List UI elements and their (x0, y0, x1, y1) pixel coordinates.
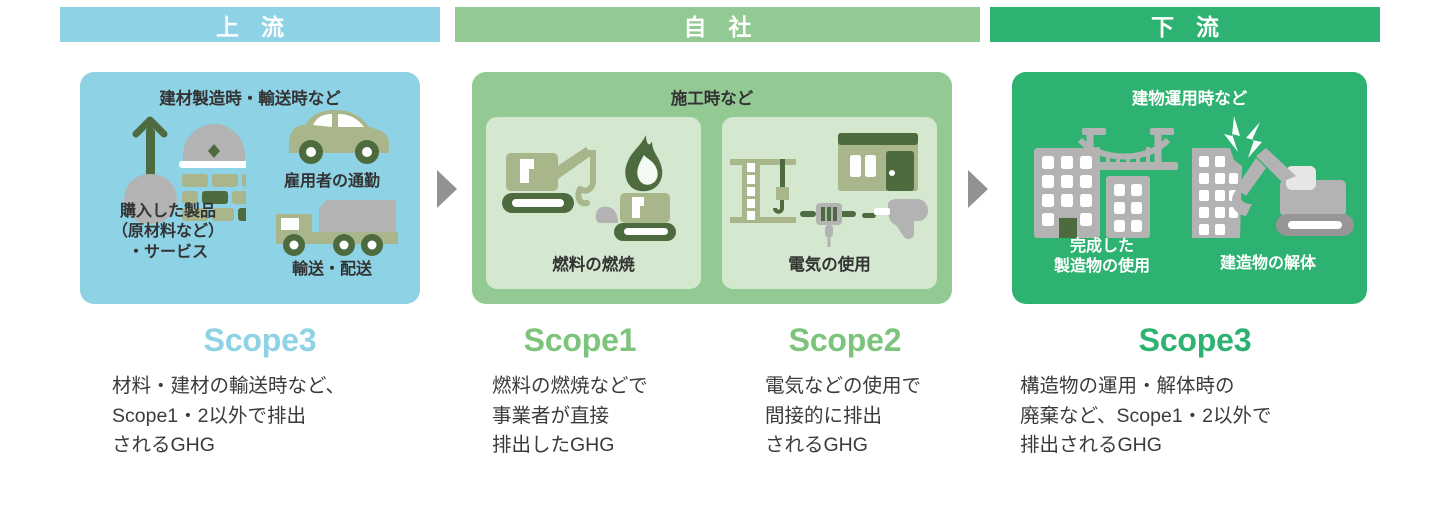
panel-upstream: 建材製造時・輸送時など 購入した製品 （原材料など） ・サービス (80, 72, 420, 304)
scope-body-scope2: 電気などの使用で 間接的に排出 されるGHG (765, 372, 1020, 461)
buildings-bridge-icon (1030, 114, 1178, 239)
subcard-fuel-combustion: 燃料の燃焼 (486, 117, 701, 289)
header-downstream-label: 下 流 (1143, 8, 1227, 42)
truck-icon (272, 192, 402, 258)
upstream-item-label-purchased: 購入した製品 （原材料など） ・サービス (88, 202, 248, 263)
panel-own-company-caption: 施工時など (472, 85, 952, 109)
downstream-item-label-demolish: 建造物の解体 (1182, 254, 1354, 274)
header-upstream-label: 上 流 (208, 8, 292, 42)
car-icon (275, 105, 395, 169)
upstream-item-label-transport: 輸送・配送 (248, 260, 416, 280)
scope-body-scope3-downstream: 構造物の運用・解体時の 廃棄など、Scope1・2以外で 排出されるGHG (1020, 372, 1390, 461)
excavator-flame-icon (494, 131, 694, 249)
scope-title-scope1: Scope1 (480, 322, 680, 359)
scope-title-scope3-downstream: Scope3 (1050, 322, 1340, 359)
subcard-fuel-combustion-label: 燃料の燃焼 (486, 251, 701, 275)
infographic-root: 上 流 自 社 下 流 建材製造時・輸送時など (0, 0, 1440, 505)
arrow-right-icon (968, 170, 988, 208)
header-own-company: 自 社 (455, 7, 980, 42)
panel-downstream: 建物運用時など (1012, 72, 1367, 304)
panel-own-company: 施工時など 燃料の燃焼 (472, 72, 952, 304)
power-tools-site-icon (728, 129, 932, 251)
arrow-right-icon (437, 170, 457, 208)
header-upstream: 上 流 (60, 7, 440, 42)
header-downstream: 下 流 (990, 7, 1380, 42)
scope-body-scope3-upstream: 材料・建材の輸送時など、 Scope1・2以外で排出 されるGHG (112, 372, 442, 461)
subcard-electricity-use-label: 電気の使用 (722, 251, 937, 275)
panel-downstream-caption: 建物運用時など (1012, 85, 1367, 109)
scope-title-scope3-upstream: Scope3 (110, 322, 410, 359)
downstream-item-label-use: 完成した 製造物の使用 (1026, 237, 1178, 278)
scope-title-scope2: Scope2 (745, 322, 945, 359)
header-own-company-label: 自 社 (676, 8, 760, 42)
demolition-excavator-icon (1184, 114, 1354, 244)
scope-body-scope1: 燃料の燃焼などで 事業者が直接 排出したGHG (492, 372, 747, 461)
subcard-electricity-use: 電気の使用 (722, 117, 937, 289)
upstream-item-label-commute: 雇用者の通勤 (248, 172, 416, 192)
